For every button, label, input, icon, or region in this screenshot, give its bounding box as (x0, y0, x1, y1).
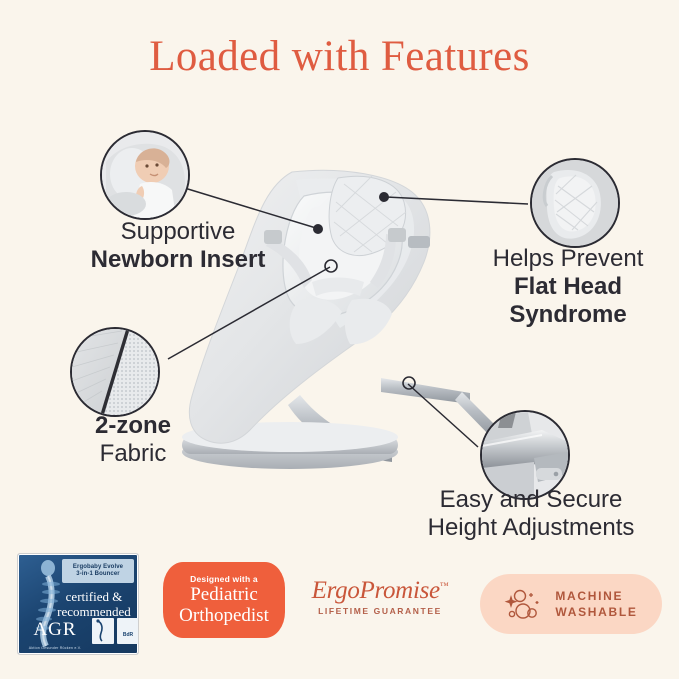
feature-label-height-adjustment: Easy and Secure Height Adjustments (396, 486, 666, 542)
badge-machine-washable[interactable]: MACHINE WASHABLE (480, 574, 662, 634)
feature-line-1: Helps Prevent (462, 245, 674, 273)
agr-product-line-2: 3-in-1 Bouncer (76, 571, 119, 579)
washable-line-2: WASHABLE (555, 604, 637, 620)
feature-line-3: Syndrome (462, 301, 674, 329)
feature-label-two-zone-fabric: 2-zone Fabric (48, 412, 218, 468)
ergopromise-text: ErgoPromise (312, 577, 440, 604)
agr-product-tag: Ergobaby Evolve 3-in-1 Bouncer (62, 559, 134, 583)
quilted-head-pillow-image (532, 160, 618, 246)
newborn-baby-image (102, 132, 188, 218)
agr-logo-text: AGR (24, 619, 86, 641)
trademark-symbol: ™ (440, 581, 449, 591)
agr-mark-2-label: BdR (117, 633, 139, 638)
feature-line-1: 2-zone (48, 412, 218, 440)
two-zone-fabric-image (72, 329, 158, 415)
feature-line-1: Supportive (58, 218, 298, 246)
washable-label: MACHINE WASHABLE (555, 588, 637, 620)
marker-flat-head (379, 192, 389, 202)
callout-thumb-newborn-insert[interactable] (100, 130, 190, 220)
callout-thumb-flat-head[interactable] (530, 158, 620, 248)
feature-line-2: Height Adjustments (396, 514, 666, 542)
agr-association-text: Aktion Gesunder Rücken e.V. (24, 646, 86, 650)
feature-line-2: Newborn Insert (58, 246, 298, 274)
ergopromise-subtitle: LIFETIME GUARANTEE (305, 606, 455, 616)
badge-pediatric-orthopedist[interactable]: Designed with a Pediatric Orthopedist (163, 562, 285, 638)
feature-label-flat-head: Helps Prevent Flat Head Syndrome (462, 245, 674, 329)
bubbles-sparkle-icon (504, 587, 546, 621)
agr-cert-line-2: recommended (52, 605, 136, 620)
washable-line-1: MACHINE (555, 588, 637, 604)
pediatric-line-2: Orthopedist (179, 606, 269, 626)
feature-line-2: Flat Head (462, 273, 674, 301)
certification-badges: Ergobaby Evolve 3-in-1 Bouncer certified… (0, 550, 679, 665)
agr-cert-line-1: certified & (52, 590, 136, 605)
infographic-canvas: Loaded with Features (0, 0, 679, 679)
feature-line-1: Easy and Secure (396, 486, 666, 514)
pediatric-line-1: Pediatric (190, 585, 258, 605)
marker-newborn-insert (313, 224, 323, 234)
badge-ergopromise[interactable]: ErgoPromise™ LIFETIME GUARANTEE (305, 578, 455, 616)
agr-mark-1-label (92, 633, 114, 638)
callout-thumb-two-zone-fabric[interactable] (70, 327, 160, 417)
feature-line-2: Fabric (48, 440, 218, 468)
agr-product-line-1: Ergobaby Evolve (73, 564, 123, 572)
agr-partner-mark-1 (92, 618, 114, 644)
ergopromise-wordmark: ErgoPromise™ (305, 578, 455, 603)
agr-certified-text: certified & recommended (52, 590, 136, 619)
feature-label-newborn-insert: Supportive Newborn Insert (58, 218, 298, 274)
badge-agr-certified[interactable]: Ergobaby Evolve 3-in-1 Bouncer certified… (17, 553, 139, 655)
forum-mark-icon (92, 618, 114, 644)
agr-partner-mark-2: BdR (117, 618, 139, 644)
pediatric-eyebrow: Designed with a (190, 574, 258, 584)
